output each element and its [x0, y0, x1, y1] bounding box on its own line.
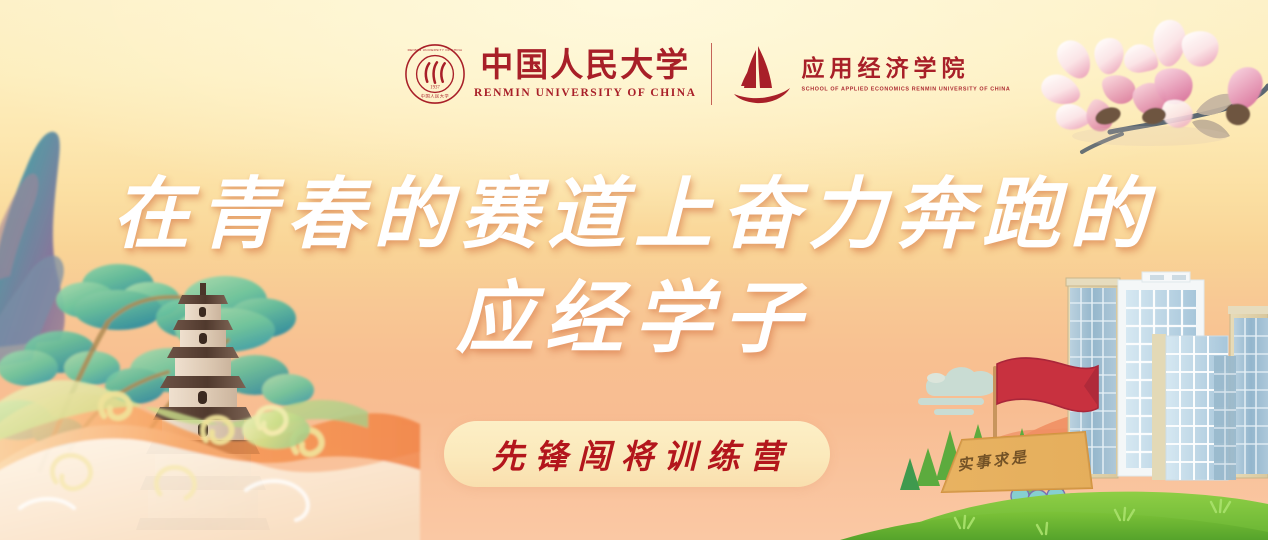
svg-text:1937: 1937: [430, 86, 440, 91]
school-logo: 应用经济学院 SCHOOL OF APPLIED ECONOMICS RENMI…: [728, 42, 1011, 106]
svg-text:中国人民大学: 中国人民大学: [421, 92, 450, 99]
school-name-en: SCHOOL OF APPLIED ECONOMICS RENMIN UNIVE…: [802, 85, 1011, 93]
svg-text:RENMIN UNIVERSITY OF CHINA: RENMIN UNIVERSITY OF CHINA: [408, 48, 463, 52]
event-banner: 1937 中国人民大学 RENMIN UNIVERSITY OF CHINA 中…: [0, 0, 1268, 540]
logo-divider: [711, 43, 712, 105]
subtitle-pill: 先锋闯将训练营: [444, 421, 830, 487]
ruc-name-en: RENMIN UNIVERSITY OF CHINA: [474, 86, 697, 101]
ruc-name-cn: 中国人民大学: [480, 48, 690, 84]
headline-block: 在青春的赛道上奋力奔跑的 应经学子: [0, 163, 1268, 371]
stylized-blue-cloud: [918, 367, 996, 415]
ruc-wordmark: 中国人民大学 RENMIN UNIVERSITY OF CHINA: [474, 48, 697, 101]
magnolia-branch: [1041, 20, 1268, 152]
headline-line-2: 应经学子: [0, 267, 1268, 371]
pagoda: [136, 283, 270, 530]
subtitle-label: 先锋闯将训练营: [482, 430, 793, 478]
campus-buildings: [1066, 272, 1268, 480]
pine-canopy-group: [0, 264, 314, 470]
ink-mountain: [0, 132, 65, 368]
school-wordmark: 应用经济学院 SCHOOL OF APPLIED ECONOMICS RENMI…: [802, 56, 1011, 93]
ruc-circular-emblem: 1937 中国人民大学 RENMIN UNIVERSITY OF CHINA: [404, 43, 466, 105]
auspicious-cloud-waves: [0, 380, 420, 540]
stone-tablet-text: 实事求是: [956, 446, 1030, 476]
sail-boat-mark: [728, 42, 792, 106]
grass-hills: [840, 492, 1268, 540]
headline-line-1: 在青春的赛道上奋力奔跑的: [0, 163, 1268, 267]
red-flag: [993, 358, 1098, 462]
header-logo-bar: 1937 中国人民大学 RENMIN UNIVERSITY OF CHINA 中…: [404, 38, 1010, 110]
school-name-cn: 应用经济学院: [802, 56, 1011, 82]
